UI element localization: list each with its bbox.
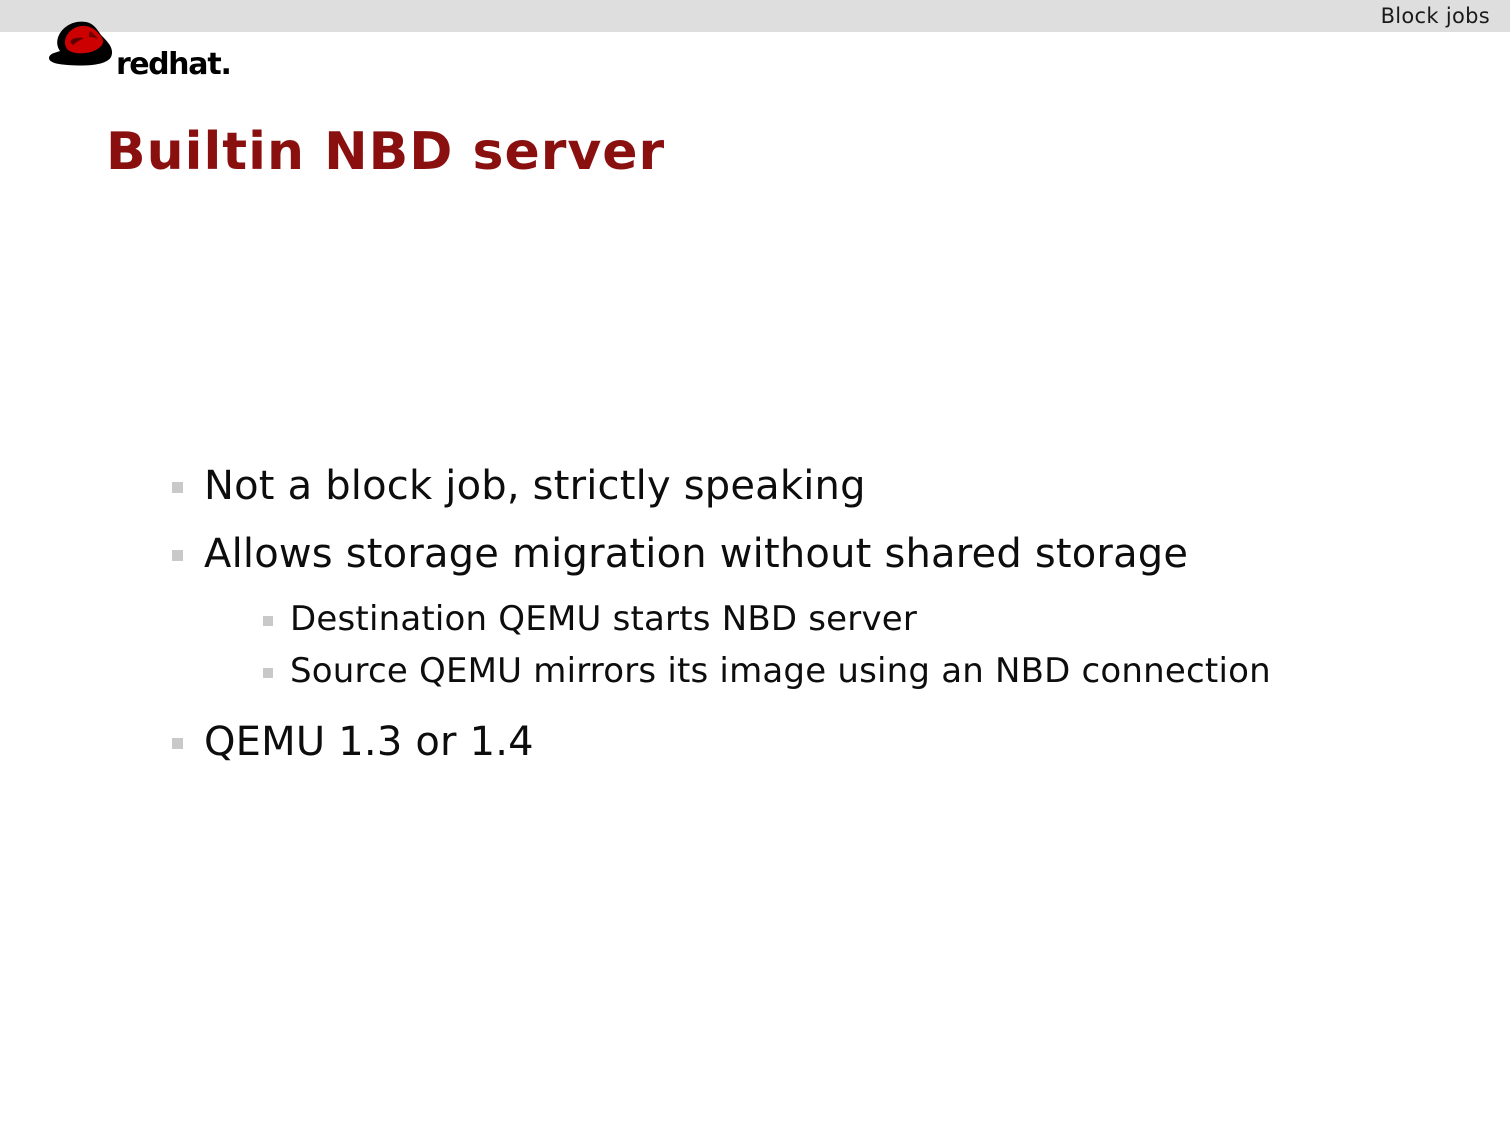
bullet-marker-icon (172, 550, 183, 561)
section-title: Block jobs (1381, 4, 1490, 29)
sub-bullet-marker-icon (263, 616, 273, 626)
red-hat-logo: redhat. (46, 20, 246, 70)
wordmark-hat: hat (168, 47, 220, 82)
list-item-label: Not a block job, strictly speaking (204, 462, 866, 510)
list-item: QEMU 1.3 or 1.4 (0, 718, 1510, 766)
list-item-label: Allows storage migration without shared … (204, 530, 1188, 578)
list-item: Not a block job, strictly speaking (0, 462, 1510, 510)
list-spacer (0, 708, 1510, 718)
sub-list-item-label: Destination QEMU starts NBD server (290, 598, 917, 640)
sub-list-item-label: Source QEMU mirrors its image using an N… (290, 650, 1271, 692)
wordmark-red: red (116, 47, 168, 82)
shadowman-icon (46, 20, 124, 68)
list-item-label: QEMU 1.3 or 1.4 (204, 718, 534, 766)
presentation-slide: Block jobs redhat. Builtin NBD server No… (0, 0, 1510, 1133)
page-title: Builtin NBD server (106, 121, 665, 183)
sub-bullet-marker-icon (263, 668, 273, 678)
list-item: Allows storage migration without shared … (0, 530, 1510, 578)
bullet-list: Not a block job, strictly speaking Allow… (0, 462, 1510, 786)
sub-bullet-list: Destination QEMU starts NBD server Sourc… (0, 598, 1510, 692)
bullet-marker-icon (172, 482, 183, 493)
wordmark-dot: . (220, 47, 231, 82)
bullet-marker-icon (172, 738, 183, 749)
red-hat-wordmark: redhat. (116, 50, 232, 80)
sub-list-item: Source QEMU mirrors its image using an N… (0, 650, 1510, 692)
sub-list-item: Destination QEMU starts NBD server (0, 598, 1510, 640)
